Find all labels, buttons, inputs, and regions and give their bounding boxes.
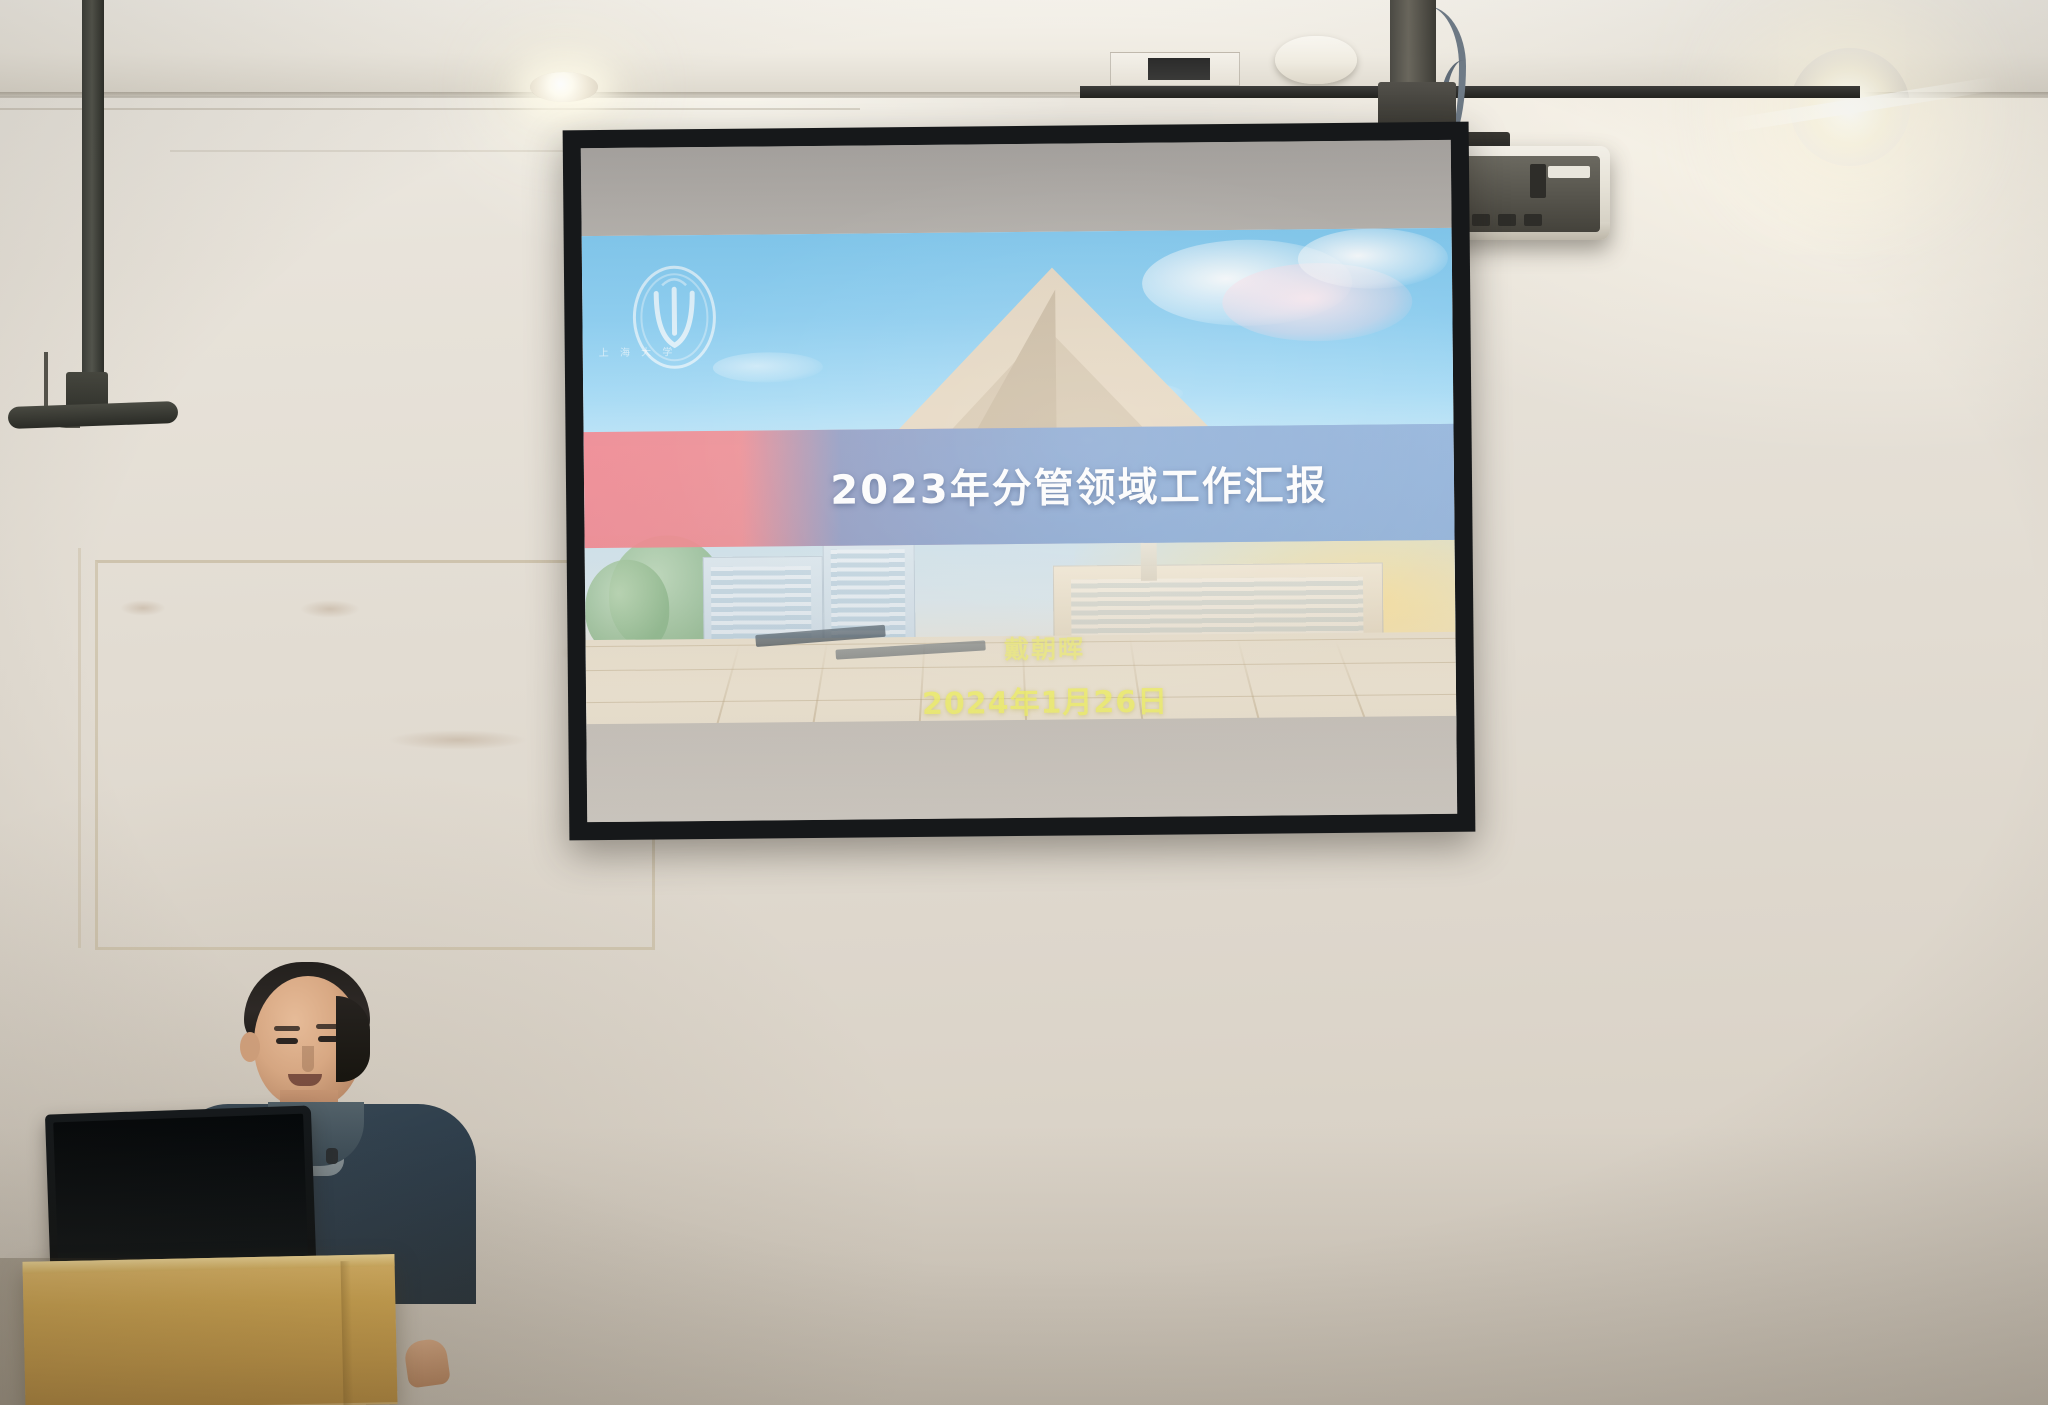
projector-button[interactable] [1472, 214, 1490, 226]
ceiling-downlight-icon [530, 72, 598, 102]
presentation-slide: 上 海 大 学 2023年分管领域工作汇报 戴朝晖 2024年1月26日 [582, 228, 1457, 760]
wall-bracket-pole [82, 0, 104, 380]
ceiling-soffit [0, 0, 2048, 96]
presenter-nose [302, 1046, 314, 1072]
university-logo-subtitle: 上 海 大 学 [599, 343, 717, 359]
projector-button[interactable] [1530, 164, 1546, 198]
university-logo-icon [626, 259, 723, 382]
podium-side-edge [341, 1261, 354, 1405]
projector-button[interactable] [1524, 214, 1542, 226]
air-vent-grille [1148, 58, 1210, 80]
podium [22, 1254, 397, 1405]
wall-smudge [388, 730, 528, 750]
photo-scene: 上 海 大 学 2023年分管领域工作汇报 戴朝晖 2024年1月26日 [0, 0, 2048, 1405]
presenter-ear [240, 1032, 260, 1062]
slide-title: 2023年分管领域工作汇报 [584, 452, 1455, 518]
wall-seam [0, 108, 860, 110]
campus-monument [1141, 537, 1157, 581]
smoke-detector-icon [1275, 36, 1357, 84]
screen-letterbox-bottom [586, 716, 1457, 822]
screen-letterbox-top [581, 140, 1452, 236]
ceiling-spotlight-icon [1790, 48, 1910, 166]
projector-mount-pole [1390, 0, 1436, 92]
projector-button[interactable] [1498, 214, 1516, 226]
lapel-microphone-icon [326, 1148, 338, 1164]
wall-smudge [300, 600, 360, 618]
building-roof-shadow [967, 290, 1056, 445]
wall-smudge [120, 600, 166, 616]
screen-surface: 上 海 大 学 2023年分管领域工作汇报 戴朝晖 2024年1月26日 [581, 140, 1457, 822]
wall-panel-outline [78, 548, 108, 948]
projector-label-sticker [1548, 166, 1590, 178]
monitor-screen[interactable] [53, 1114, 308, 1265]
projection-screen: 上 海 大 学 2023年分管领域工作汇报 戴朝晖 2024年1月26日 [563, 122, 1476, 841]
